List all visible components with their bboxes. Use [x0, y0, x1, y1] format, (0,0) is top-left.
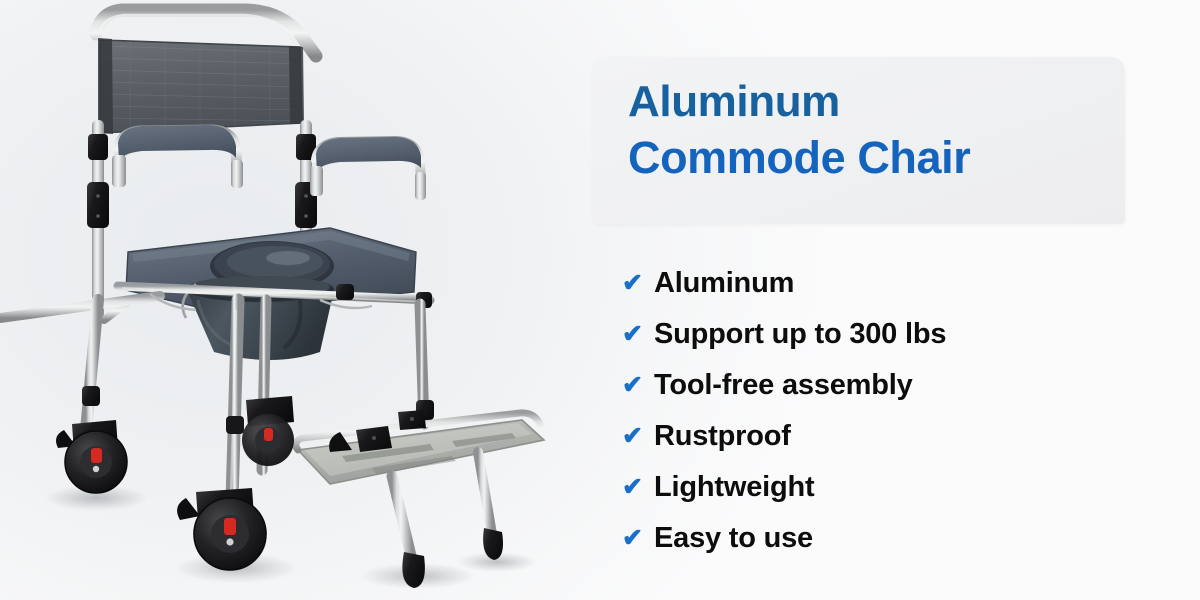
copy-panel: Aluminum Commode Chair ✔ Aluminum ✔ Supp…	[580, 0, 1200, 600]
chair-backrest	[96, 10, 316, 134]
checkmark-icon: ✔	[620, 424, 654, 449]
product-image	[0, 0, 580, 600]
feature-item-easy-to-use: ✔ Easy to use	[620, 513, 1180, 564]
feature-label: Support up to 300 lbs	[654, 318, 946, 351]
checkmark-icon: ✔	[620, 271, 654, 296]
checkmark-icon: ✔	[620, 475, 654, 500]
feature-label: Easy to use	[654, 522, 813, 555]
caster-rear-left	[56, 420, 127, 493]
title-card: Aluminum Commode Chair	[593, 57, 1125, 224]
product-banner: Aluminum Commode Chair ✔ Aluminum ✔ Supp…	[0, 0, 1200, 600]
feature-list: ✔ Aluminum ✔ Support up to 300 lbs ✔ Too…	[620, 258, 1180, 564]
product-title-line-2: Commode Chair	[628, 132, 970, 184]
feature-item-lightweight: ✔ Lightweight	[620, 462, 1180, 513]
commode-chair-illustration	[0, 0, 580, 600]
feature-label: Aluminum	[654, 267, 794, 300]
ground-shadow	[44, 485, 537, 589]
feature-label: Tool-free assembly	[654, 369, 913, 402]
checkmark-icon: ✔	[620, 373, 654, 398]
product-title-line-1: Aluminum	[628, 77, 840, 127]
caster-rear-right	[242, 396, 294, 466]
chair-armrest-right	[310, 137, 426, 200]
feature-item-weight-capacity: ✔ Support up to 300 lbs	[620, 309, 1180, 360]
caster-front-center	[177, 488, 266, 570]
chair-armrest-left	[112, 125, 243, 188]
checkmark-icon: ✔	[620, 322, 654, 347]
checkmark-icon: ✔	[620, 526, 654, 551]
feature-label: Rustproof	[654, 420, 791, 453]
feature-label: Lightweight	[654, 471, 815, 504]
feature-item-rustproof: ✔ Rustproof	[620, 411, 1180, 462]
feature-item-tool-free-assembly: ✔ Tool-free assembly	[620, 360, 1180, 411]
feature-item-aluminum: ✔ Aluminum	[620, 258, 1180, 309]
